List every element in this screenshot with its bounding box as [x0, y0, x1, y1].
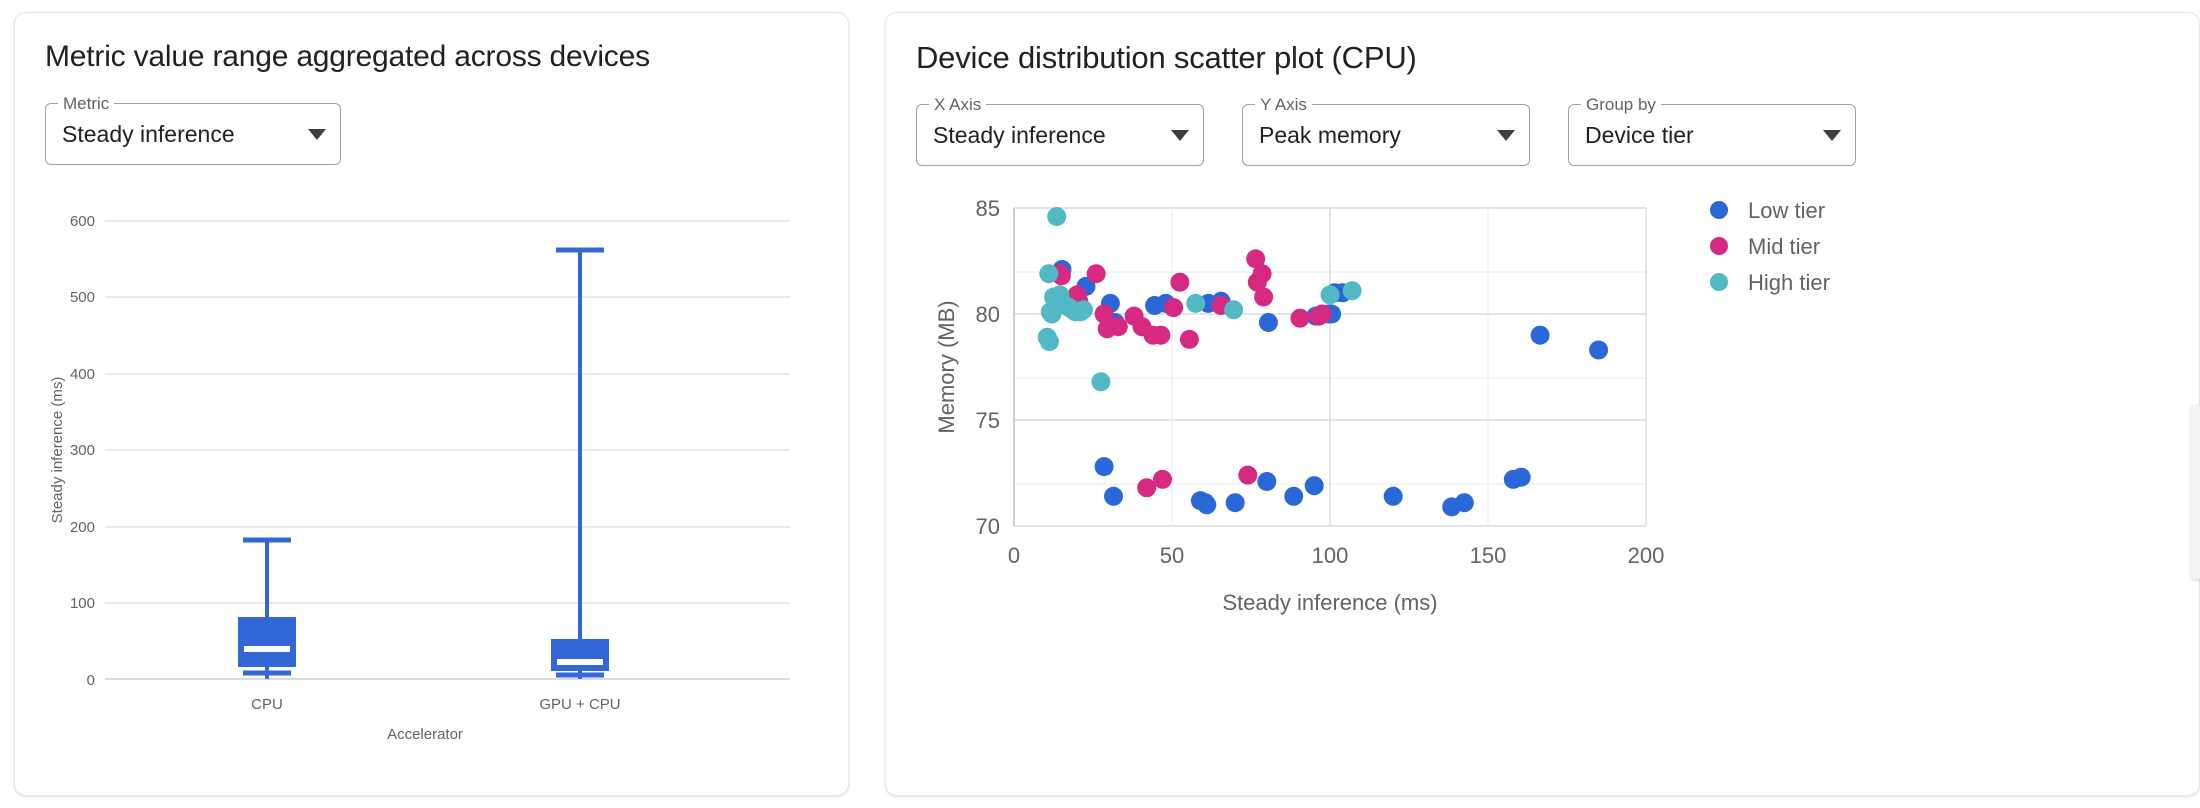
boxplot-category-gpu-cpu: GPU + CPU — [539, 696, 620, 713]
scatter-point[interactable] — [1512, 468, 1531, 487]
svg-text:300: 300 — [70, 442, 95, 459]
scatter-point[interactable] — [1321, 286, 1340, 305]
scatter-point[interactable] — [1109, 317, 1128, 336]
chevron-down-icon — [308, 129, 326, 140]
svg-text:75: 75 — [976, 408, 1000, 433]
legend-label-high-tier: High tier — [1748, 270, 1830, 295]
scatter-point[interactable] — [1091, 372, 1110, 391]
scatter-point[interactable] — [1455, 493, 1474, 512]
y-axis-select[interactable]: Y Axis Peak memory — [1242, 104, 1530, 166]
scatter-point[interactable] — [1305, 476, 1324, 495]
scatter-point[interactable] — [1384, 487, 1403, 506]
scatter-point[interactable] — [1039, 264, 1058, 283]
scatter-point[interactable] — [1224, 300, 1243, 319]
scatter-point[interactable] — [1170, 273, 1189, 292]
boxplot-box-gpu-cpu[interactable] — [551, 250, 609, 679]
svg-text:0: 0 — [87, 672, 95, 689]
x-axis-select-legend: X Axis — [929, 95, 986, 115]
metric-select-legend: Metric — [58, 94, 114, 114]
scatter-point[interactable] — [1257, 472, 1276, 491]
boxplot-x-axis-title: Accelerator — [387, 726, 463, 739]
scatter-point[interactable] — [1047, 207, 1066, 226]
scatter-tooltip: Samsung Galaxy A51 - Steady inference (m… — [2191, 405, 2200, 579]
scatter-point[interactable] — [1153, 470, 1172, 489]
scatter-point[interactable] — [1087, 264, 1106, 283]
group-by-select[interactable]: Group by Device tier — [1568, 104, 1856, 166]
boxplot-y-ticklabels: 600 500 400 300 200 100 0 — [70, 213, 95, 689]
svg-text:600: 600 — [70, 213, 95, 230]
scatter-points-layer[interactable] — [1038, 207, 1608, 516]
scatter-point[interactable] — [1197, 495, 1216, 514]
boxplot-gridlines — [105, 221, 790, 679]
group-by-select-legend: Group by — [1581, 95, 1661, 115]
legend-swatch-mid-tier — [1710, 237, 1728, 255]
svg-text:400: 400 — [70, 366, 95, 383]
svg-text:85: 85 — [976, 196, 1000, 221]
scatter-title: Device distribution scatter plot (CPU) — [916, 39, 2169, 76]
group-by-select-value: Device tier — [1585, 122, 1807, 149]
svg-text:100: 100 — [1312, 543, 1349, 568]
scatter-point[interactable] — [1238, 466, 1257, 485]
left-controls: Metric Steady inference — [45, 103, 818, 165]
boxplot-box-cpu[interactable] — [238, 540, 296, 679]
chevron-down-icon — [1823, 130, 1841, 141]
svg-text:80: 80 — [976, 302, 1000, 327]
boxplot-y-axis-title: Steady inference (ms) — [49, 377, 66, 524]
scatter-grid — [1014, 208, 1646, 526]
metric-select-value: Steady inference — [62, 121, 292, 148]
scatter-point[interactable] — [1259, 313, 1278, 332]
chevron-down-icon — [1497, 130, 1515, 141]
scatter-point[interactable] — [1164, 298, 1183, 317]
legend-swatch-low-tier — [1710, 201, 1728, 219]
scatter-point[interactable] — [1343, 281, 1362, 300]
scatter-controls: X Axis Steady inference Y Axis Peak memo… — [916, 104, 2169, 166]
scatter-point[interactable] — [1074, 300, 1093, 319]
x-axis-select[interactable]: X Axis Steady inference — [916, 104, 1204, 166]
scatter-x-axis-title: Steady inference (ms) — [1222, 590, 1437, 615]
scatter-card: Device distribution scatter plot (CPU) X… — [885, 12, 2200, 796]
y-axis-select-value: Peak memory — [1259, 122, 1481, 149]
scatter-point[interactable] — [1254, 288, 1273, 307]
boxplot-svg: 600 500 400 300 200 100 0 Steady inferen… — [45, 199, 820, 739]
legend-label-mid-tier: Mid tier — [1748, 234, 1820, 259]
scatter-point[interactable] — [1531, 326, 1550, 345]
scatter-point[interactable] — [1042, 305, 1061, 324]
svg-text:100: 100 — [70, 595, 95, 612]
scatter-point[interactable] — [1180, 330, 1199, 349]
y-axis-select-legend: Y Axis — [1255, 95, 1312, 115]
x-axis-select-value: Steady inference — [933, 122, 1155, 149]
scatter-point[interactable] — [1040, 332, 1059, 351]
svg-text:50: 50 — [1160, 543, 1184, 568]
svg-text:70: 70 — [976, 514, 1000, 539]
scatter-point[interactable] — [1095, 457, 1114, 476]
legend-label-low-tier: Low tier — [1748, 198, 1825, 223]
dashboard-root: Metric value range aggregated across dev… — [0, 0, 2200, 808]
scatter-x-ticklabels: 0 50 100 150 200 — [1008, 543, 1664, 568]
chevron-down-icon — [1171, 130, 1189, 141]
page-title: Metric value range aggregated across dev… — [45, 39, 818, 75]
scatter-point[interactable] — [1589, 341, 1608, 360]
scatter-point[interactable] — [1313, 305, 1332, 324]
metric-select[interactable]: Metric Steady inference — [45, 103, 341, 165]
svg-text:200: 200 — [70, 519, 95, 536]
scatter-point[interactable] — [1151, 326, 1170, 345]
scatter-point[interactable] — [1226, 493, 1245, 512]
scatter-point[interactable] — [1104, 487, 1123, 506]
svg-text:150: 150 — [1470, 543, 1507, 568]
scatter-legend: Low tier Mid tier High tier — [1710, 198, 1830, 295]
scatter-svg: 85 80 75 70 0 50 100 150 200 Memory (MB)… — [924, 196, 2179, 696]
svg-text:200: 200 — [1628, 543, 1665, 568]
svg-text:500: 500 — [70, 289, 95, 306]
scatter-chart: 85 80 75 70 0 50 100 150 200 Memory (MB)… — [924, 196, 2169, 701]
scatter-point[interactable] — [1186, 294, 1205, 313]
scatter-point[interactable] — [1291, 309, 1310, 328]
svg-text:0: 0 — [1008, 543, 1020, 568]
boxplot-chart: 600 500 400 300 200 100 0 Steady inferen… — [45, 199, 818, 744]
scatter-y-axis-title: Memory (MB) — [934, 301, 959, 434]
boxplot-category-cpu: CPU — [251, 696, 283, 713]
scatter-y-ticklabels: 85 80 75 70 — [976, 196, 1000, 539]
legend-swatch-high-tier — [1710, 273, 1728, 291]
metric-range-card: Metric value range aggregated across dev… — [14, 12, 849, 796]
scatter-point[interactable] — [1284, 487, 1303, 506]
scatter-point[interactable] — [1253, 264, 1272, 283]
